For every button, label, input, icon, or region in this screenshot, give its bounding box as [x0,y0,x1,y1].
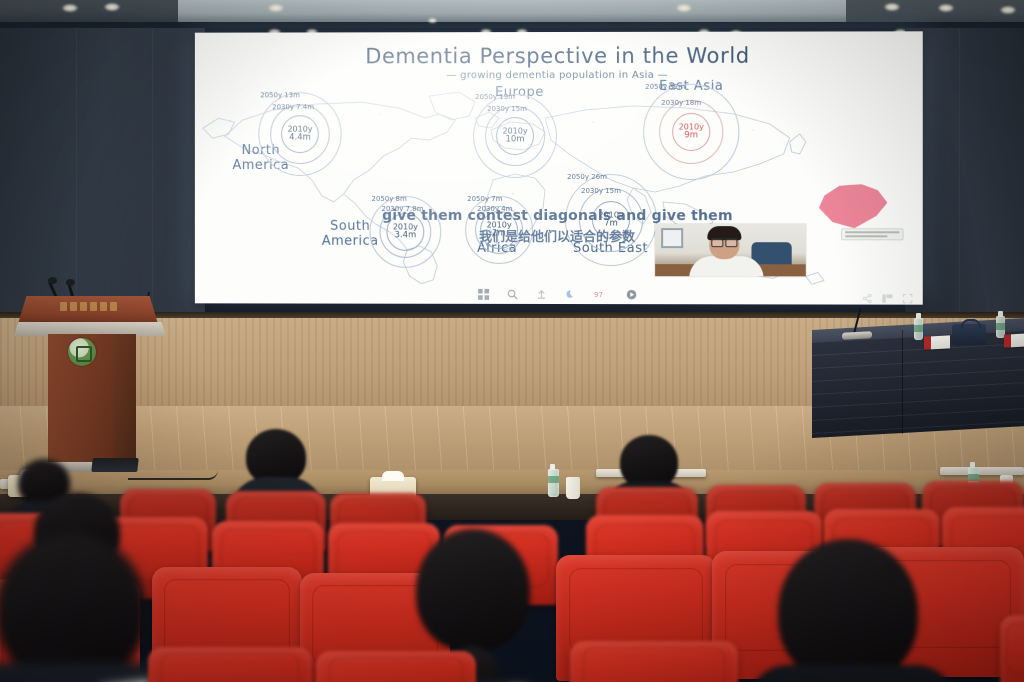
water-bottle[interactable] [548,469,559,497]
podium-column-side [114,334,136,462]
seat[interactable] [316,651,476,682]
ceiling-spotlight [676,4,692,12]
region-ring-label: 2030y 18m [661,99,701,107]
seat[interactable] [148,647,312,682]
slide-title: Dementia Perspective in the World [195,43,923,68]
region-ring-label: 2050y 8m [372,195,407,203]
region-ring-label: 2050y 19m [475,93,515,101]
fullscreen-icon[interactable] [903,291,913,301]
ceiling [0,0,1024,30]
region-ring-label: 2050y 13m [260,91,300,99]
slide-subtitle: — growing dementia population in Asia — [195,70,923,82]
region-ring-label: 2050y 7m [467,195,502,203]
wall-left-panel [0,28,205,318]
seat[interactable] [570,641,738,682]
microphone-head-icon [48,277,57,284]
ceiling-spotlight [428,18,437,23]
subtitle-english: give them contest diagonals and give the… [195,208,923,224]
wall-right-panel [905,28,1024,318]
share-icon[interactable] [862,291,872,301]
ceiling-spotlight [62,4,78,12]
projected-slide: Dementia Perspective in the World — grow… [195,31,923,304]
grid-icon[interactable] [478,287,489,298]
region-ring-label: 2050y 31m [645,83,685,91]
ceiling-spotlight [104,3,120,11]
ceiling-panel-left [0,0,178,22]
region-ring-label: 2030y 7.4m [272,103,314,111]
seated-audience [0,455,1024,682]
region-ring-label: 2030y 15m [581,187,621,195]
upload-icon[interactable] [536,287,547,298]
person-shoulders [748,665,956,682]
table-skirt [812,330,1024,438]
seat[interactable] [1000,615,1024,682]
svg-text:97: 97 [594,291,603,299]
person-head [778,539,918,682]
row-ledge [940,467,1024,475]
projection-screen[interactable]: Dementia Perspective in the World — grow… [195,31,923,304]
person-head [0,533,146,682]
wall-picture-frame [661,228,683,248]
region-core-value: 2010y4.4m [288,125,313,144]
moon-icon[interactable] [564,287,575,298]
remote-speaker-video-tile[interactable] [655,224,806,276]
region-ring-label: 2030y 15m [487,105,527,113]
microphone-head-icon [66,279,75,286]
institution-emblem [68,338,96,366]
speaker-podium[interactable] [18,282,158,472]
subtitle-chinese: 我们是给他们以适合的参数 [195,226,923,246]
search-icon[interactable] [507,287,518,298]
layout-icon[interactable] [882,291,892,301]
water-bottle[interactable] [914,318,923,340]
eyeglasses-icon [711,238,737,244]
play-icon[interactable] [626,287,637,298]
handbag[interactable] [952,324,986,345]
region-ring-label: 2050y 26m [567,173,607,181]
world-map: NorthAmerica2050y 13m2030y 7.4m2010y4.4m… [195,84,923,285]
person-head [416,529,530,651]
app-toolbar-right[interactable] [862,291,912,301]
video-subtitle-overlay: give them contest diagonals and give the… [195,208,923,246]
w-icon[interactable]: 97 [594,287,608,298]
ceiling-spotlight [938,4,954,12]
region-core-value: 2010y10m [503,127,528,146]
region-core-value: 2010y9m [679,122,704,141]
podium-nameplate [32,302,144,314]
ceiling-spotlight [1000,6,1016,14]
ceiling-spotlight [268,4,284,12]
ceiling-panel-right [846,0,1024,22]
name-card [924,335,950,349]
ceiling-spotlight [884,3,900,11]
floating-info-pill[interactable] [841,228,904,240]
paper-cup[interactable] [566,477,580,499]
name-card [1004,333,1024,347]
app-toolbar[interactable]: 97 [195,286,923,298]
auditorium-scene: Dementia Perspective in the World — grow… [0,0,1024,682]
panel-head-table[interactable] [812,330,1024,460]
